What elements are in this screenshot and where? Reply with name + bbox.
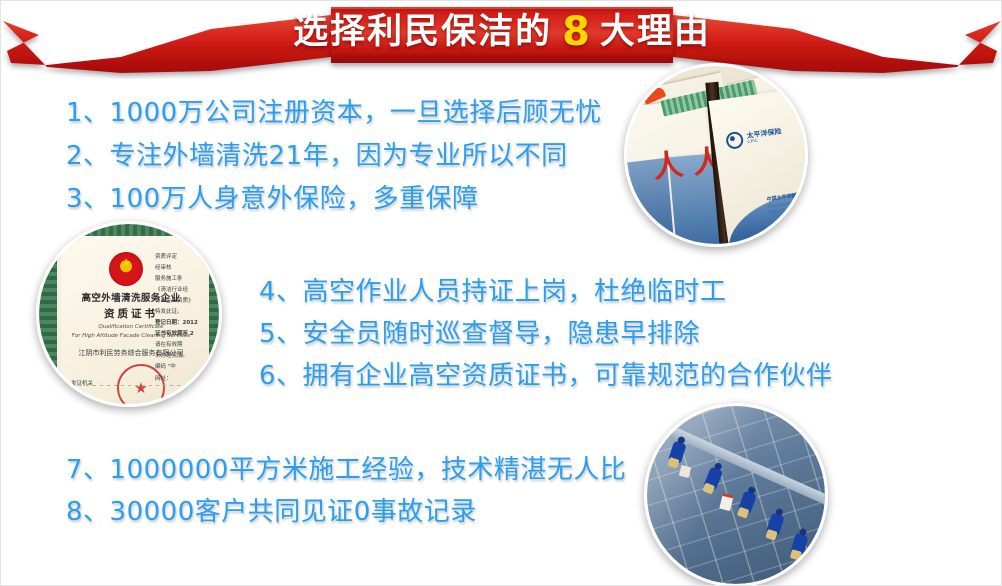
certificate-right-line-11: 编码 "中 xyxy=(155,364,207,370)
certificate-right-line-4: 《清洁行业经 xyxy=(155,287,207,293)
insurance-cover-char-a: 人 xyxy=(651,150,684,183)
reason-6-text: 拥有企业高空资质证书，可靠规范的合作伙伴 xyxy=(303,361,833,391)
reason-7-number: 7、 xyxy=(66,455,110,485)
qualification-certificate-photo: 高空外墙清洗服务企业 资质证书 Qualification Certificat… xyxy=(36,221,222,407)
reason-item-2: 2、专注外墙清洗21年，因为专业所以不同 xyxy=(66,143,568,169)
certificate-right-line-9: 请在有效期 xyxy=(155,342,207,348)
reason-item-7: 7、1000000平方米施工经验，技术精湛无人比 xyxy=(66,457,626,483)
certificate-right-line-8: 证书有效期至 2 xyxy=(155,331,207,337)
cpic-logo-mark-icon xyxy=(725,131,744,150)
ribbon-banner: 选择利民保洁的 8 大理由 xyxy=(1,1,1002,79)
reason-3-number: 3、 xyxy=(66,184,110,214)
reason-item-8: 8、30000客户共同见证0事故记录 xyxy=(66,499,477,525)
certificate-right-line-3: 服务施工条 xyxy=(155,276,207,282)
reason-item-5: 5、安全员随时巡查督导，隐患早排除 xyxy=(259,321,700,347)
reason-item-3: 3、100万人身意外保险，多重保障 xyxy=(66,186,479,212)
certificate-page: 高空外墙清洗服务企业 资质证书 Qualification Certificat… xyxy=(61,236,209,400)
certificate-right-line-6: 特发此证。 xyxy=(155,309,207,315)
insurance-policy-photo: 人 人 太平洋保险 CPIC 中国太平洋财产保险 China Pacific P… xyxy=(624,63,808,247)
reason-2-number: 2、 xyxy=(66,141,110,171)
certificate-perforation xyxy=(79,385,203,386)
certificate-border-left xyxy=(39,224,57,404)
certificate-right-line-7: 登记日期：2012 xyxy=(155,320,207,326)
certificate-right-column: 资质评定 经审核 服务施工条 《清洁行业经 行业企业资质》 特发此证。 登记日期… xyxy=(155,254,207,382)
reason-5-text: 安全员随时巡查督导，隐患早排除 xyxy=(303,319,701,349)
certificate-right-line-5: 行业企业资质》 xyxy=(155,298,207,304)
reason-5-number: 5、 xyxy=(259,319,303,349)
reason-4-text: 高空作业人员持证上岗，杜绝临时工 xyxy=(303,277,727,307)
certificate-right-line-12: 网址： xyxy=(155,376,207,382)
certificate-right-line-10: 来办理完成。 xyxy=(155,353,207,359)
ribbon-center-panel xyxy=(331,7,673,63)
national-emblem-icon xyxy=(109,252,143,286)
reason-4-number: 4、 xyxy=(259,277,303,307)
reason-8-text: 30000客户共同见证0事故记录 xyxy=(110,497,477,527)
facade-cleaning-workers-photo xyxy=(644,403,828,586)
reason-1-number: 1、 xyxy=(66,98,110,128)
ribbon-shape xyxy=(1,1,1002,79)
reason-6-number: 6、 xyxy=(259,361,303,391)
workers-photo-inner xyxy=(647,406,825,584)
certificate-right-line-2: 经审核 xyxy=(155,265,207,271)
reason-8-number: 8、 xyxy=(66,497,110,527)
ribbon-tail-left xyxy=(3,15,331,73)
reason-item-4: 4、高空作业人员持证上岗，杜绝临时工 xyxy=(259,279,727,305)
insurance-photo-inner: 人 人 太平洋保险 CPIC 中国太平洋财产保险 China Pacific P… xyxy=(627,66,805,244)
reason-item-1: 1、1000万公司注册资本，一旦选择后顾无忧 xyxy=(66,100,602,126)
reason-3-text: 100万人身意外保险，多重保障 xyxy=(110,184,479,214)
ribbon-highlight xyxy=(331,7,673,9)
certificate-photo-inner: 高空外墙清洗服务企业 资质证书 Qualification Certificat… xyxy=(39,224,219,404)
certificate-right-line-1: 资质评定 xyxy=(155,254,207,260)
reason-item-6: 6、拥有企业高空资质证书，可靠规范的合作伙伴 xyxy=(259,363,833,389)
cpic-logo: 太平洋保险 CPIC xyxy=(725,125,783,150)
cpic-logo-text: 太平洋保险 CPIC xyxy=(746,128,782,144)
reason-7-text: 1000000平方米施工经验，技术精湛无人比 xyxy=(110,455,627,485)
poster-root: 选择利民保洁的 8 大理由 1、1000万公司注册资本，一旦选择后顾无忧 2、专… xyxy=(0,0,1002,586)
reason-2-text: 专注外墙清洗21年，因为专业所以不同 xyxy=(110,141,568,171)
reason-1-text: 1000万公司注册资本，一旦选择后顾无忧 xyxy=(110,98,602,128)
